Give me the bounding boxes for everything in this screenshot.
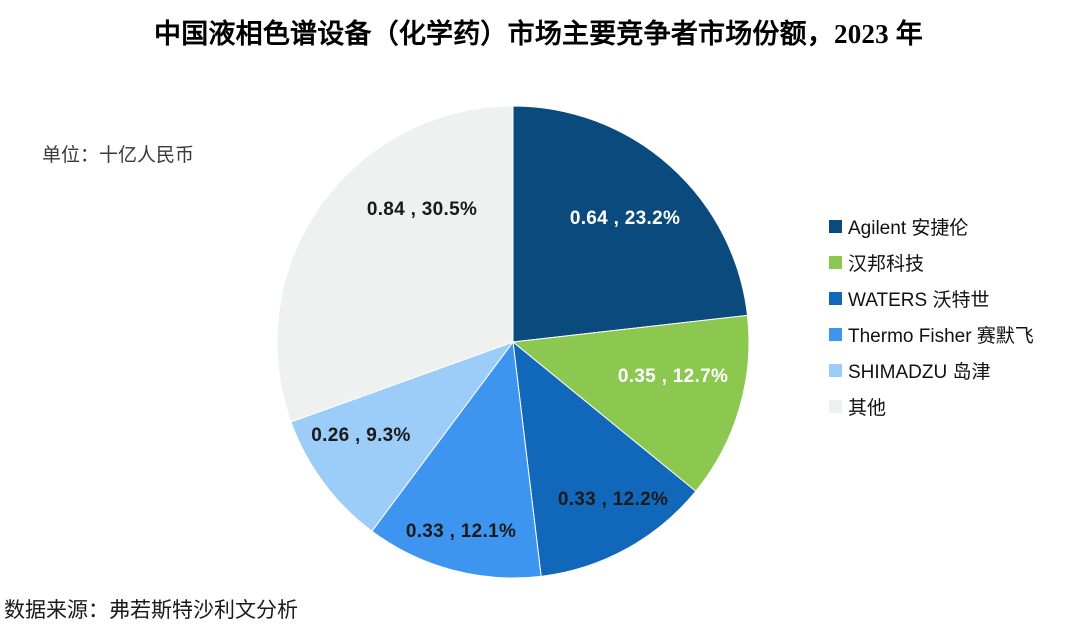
legend-item-label: 其他 [848, 393, 886, 420]
legend-item-label: 汉邦科技 [848, 249, 924, 276]
pie-chart-svg [277, 106, 749, 578]
pie-slice-label: 0.33 , 12.1% [406, 521, 516, 543]
pie-slice-label: 0.35 , 12.7% [618, 366, 728, 388]
pie-slice-group [277, 106, 749, 578]
legend-item[interactable]: WATERS 沃特世 [829, 280, 1077, 316]
legend: Agilent 安捷伦汉邦科技WATERS 沃特世Thermo Fisher 赛… [829, 208, 1077, 424]
legend-item[interactable]: 汉邦科技 [829, 244, 1077, 280]
legend-swatch-icon [829, 256, 842, 269]
pie-slice-label: 0.84 , 30.5% [367, 199, 477, 221]
unit-note: 单位：十亿人民币 [42, 140, 194, 167]
legend-swatch-icon [829, 292, 842, 305]
legend-item[interactable]: 其他 [829, 388, 1077, 424]
legend-item-label: Agilent 安捷伦 [848, 213, 968, 240]
legend-swatch-icon [829, 220, 842, 233]
pie-slice-label: 0.26 , 9.3% [311, 425, 410, 447]
legend-item-label: Thermo Fisher 赛默飞 [848, 321, 1034, 348]
source-note: 数据来源：弗若斯特沙利文分析 [4, 594, 298, 624]
page-title: 中国液相色谱设备（化学药）市场主要竞争者市场份额，2023 年 [0, 12, 1077, 51]
legend-swatch-icon [829, 328, 842, 341]
legend-item[interactable]: Agilent 安捷伦 [829, 208, 1077, 244]
pie-slice-label: 0.64 , 23.2% [570, 208, 680, 230]
legend-item-label: SHIMADZU 岛津 [848, 357, 991, 384]
legend-item[interactable]: Thermo Fisher 赛默飞 [829, 316, 1077, 352]
pie-slice-label: 0.33 , 12.2% [558, 489, 668, 511]
legend-item-label: WATERS 沃特世 [848, 285, 989, 312]
legend-item[interactable]: SHIMADZU 岛津 [829, 352, 1077, 388]
legend-swatch-icon [829, 364, 842, 377]
chart-page: 中国液相色谱设备（化学药）市场主要竞争者市场份额，2023 年 单位：十亿人民币… [0, 0, 1077, 635]
legend-swatch-icon [829, 400, 842, 413]
pie-chart: 0.64 , 23.2%0.35 , 12.7%0.33 , 12.2%0.33… [277, 106, 749, 578]
